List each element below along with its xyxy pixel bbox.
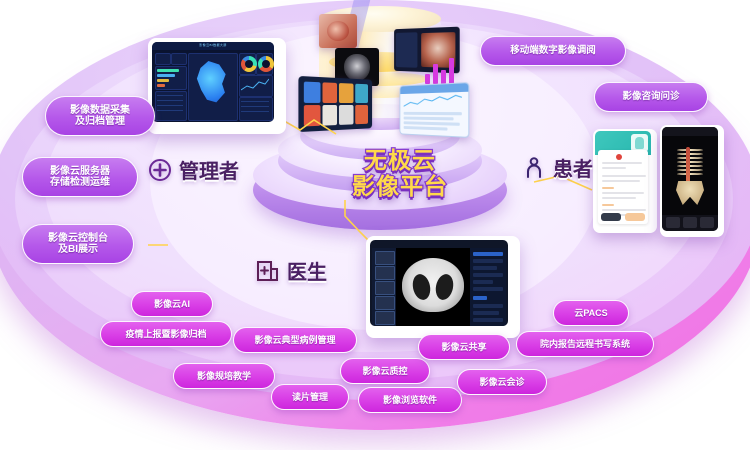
person-icon bbox=[522, 156, 546, 180]
ct-toolbar bbox=[370, 240, 508, 247]
patient-report-screen bbox=[595, 131, 651, 227]
hospital-cross-icon bbox=[256, 259, 280, 283]
role-admin-label: 管理者 bbox=[179, 155, 239, 184]
ct-image-area bbox=[396, 248, 470, 326]
bar-chart-hologram bbox=[425, 54, 459, 84]
geo-map-visual bbox=[188, 55, 236, 111]
table-header bbox=[400, 83, 468, 94]
title-line-1: 无极云 bbox=[334, 148, 466, 174]
pill-admin-2[interactable]: 影像云控制台 及BI展示 bbox=[22, 224, 134, 264]
bi-dashboard-monitor[interactable]: 影像云BI数据大屏 bbox=[148, 38, 286, 134]
pill-doctor-0[interactable]: 影像云AI bbox=[131, 291, 213, 317]
pill-doctor-6[interactable]: 影像浏览软件 bbox=[358, 387, 462, 413]
pill-doctor-8[interactable]: 影像云会诊 bbox=[457, 369, 547, 395]
infographic-canvas: 影像云BI数据大屏 bbox=[0, 0, 750, 450]
bi-dashboard-screen: 影像云BI数据大屏 bbox=[152, 42, 274, 122]
viewer-bottom-bar bbox=[662, 215, 718, 231]
pill-doctor-2[interactable]: 影像云典型病例管理 bbox=[233, 327, 357, 353]
pill-admin-1[interactable]: 影像云服务器 存储检测运维 bbox=[22, 157, 138, 197]
tile bbox=[304, 105, 320, 126]
ct-viewer-monitor[interactable] bbox=[366, 236, 520, 338]
ct-lung-image bbox=[402, 258, 464, 312]
endoscopy-thumbnail bbox=[319, 14, 357, 48]
pill-doctor-4[interactable]: 影像云质控 bbox=[340, 358, 430, 384]
report-action-left[interactable] bbox=[601, 213, 621, 221]
viewer-toolbar bbox=[662, 127, 718, 136]
role-doctor[interactable]: 医生 bbox=[256, 256, 327, 285]
report-card bbox=[598, 150, 648, 224]
tile bbox=[339, 83, 353, 103]
mobile-3d-viewer-screen bbox=[662, 127, 718, 231]
tile bbox=[355, 84, 368, 103]
ct-thumbnail-strip bbox=[372, 248, 396, 326]
tile bbox=[339, 105, 353, 125]
patient-report-phone[interactable] bbox=[593, 129, 657, 233]
skeleton-3d-render bbox=[675, 147, 705, 209]
role-doctor-label: 医生 bbox=[287, 256, 327, 285]
report-action-right[interactable] bbox=[625, 213, 645, 221]
ct-viewer-screen bbox=[370, 240, 508, 326]
role-admin[interactable]: 管理者 bbox=[148, 155, 239, 184]
pill-patient-0[interactable]: 移动端数字影像调阅 bbox=[480, 36, 626, 66]
role-patient-label: 患者 bbox=[553, 153, 593, 182]
pill-doctor-5[interactable]: 读片管理 bbox=[271, 384, 349, 410]
pelvis bbox=[676, 181, 704, 205]
central-cloud-tower bbox=[305, 0, 455, 135]
circle-plus-icon bbox=[148, 158, 172, 182]
mobile-3d-viewer-phone[interactable] bbox=[660, 125, 724, 237]
ct-report-panel bbox=[470, 248, 506, 326]
ribcage bbox=[677, 147, 703, 177]
role-patient[interactable]: 患者 bbox=[522, 153, 593, 182]
app-tiles-thumbnail bbox=[298, 76, 372, 132]
pill-doctor-1[interactable]: 疫情上报暨影像归档 bbox=[100, 321, 232, 347]
tile bbox=[355, 105, 368, 124]
sparkline-chart bbox=[404, 94, 462, 109]
pill-doctor-10[interactable]: 院内报告远程书写系统 bbox=[516, 331, 654, 357]
pill-doctor-9[interactable]: 云PACS bbox=[553, 300, 629, 326]
tile bbox=[304, 82, 320, 103]
bi-title-text: 影像云BI数据大屏 bbox=[199, 43, 226, 47]
pill-doctor-7[interactable]: 影像云共享 bbox=[418, 334, 510, 360]
tile-grid bbox=[304, 82, 368, 127]
pill-admin-0[interactable]: 影像数据采集 及归档管理 bbox=[45, 96, 155, 136]
pill-doctor-3[interactable]: 影像规培教学 bbox=[173, 363, 275, 389]
title-line-2: 影像平台 bbox=[334, 174, 466, 200]
tile bbox=[322, 82, 337, 103]
page-title: 无极云 影像平台 bbox=[334, 148, 466, 200]
pacs-sidebar bbox=[396, 32, 418, 68]
data-table-thumbnail bbox=[400, 82, 470, 138]
pill-patient-1[interactable]: 影像咨询问诊 bbox=[594, 82, 708, 112]
tile bbox=[322, 105, 337, 126]
